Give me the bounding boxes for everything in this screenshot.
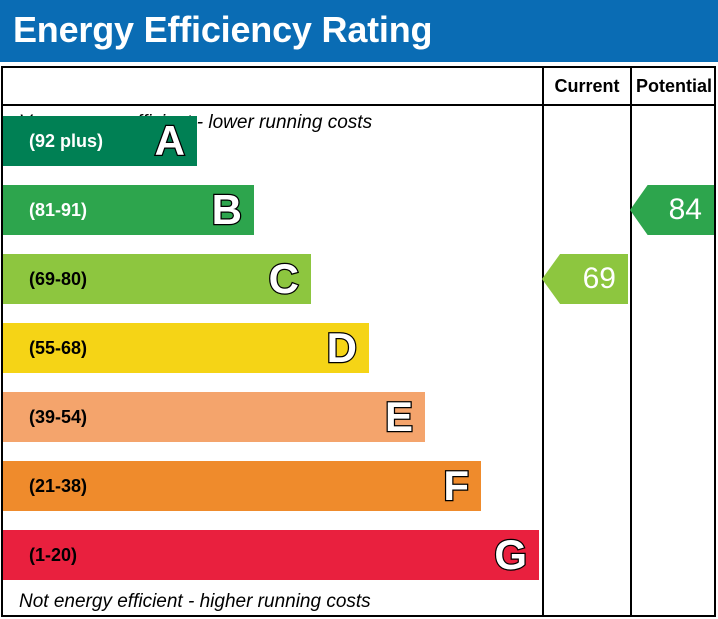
band-row-d: (55-68)D [3, 323, 369, 373]
band-letter-d: D [327, 323, 357, 373]
band-row-b: (81-91)B [3, 185, 254, 235]
band-row-a: (92 plus)A [3, 116, 197, 166]
band-letter-c: C [269, 254, 299, 304]
column-header-current: Current [544, 68, 630, 104]
rating-table: Current Potential Very energy efficient … [1, 66, 716, 617]
band-range-label-e: (39-54) [29, 392, 87, 442]
band-row-e: (39-54)E [3, 392, 425, 442]
column-header-potential: Potential [632, 68, 716, 104]
rating-arrow-potential: 84 [630, 185, 714, 235]
band-letter-e: E [385, 392, 413, 442]
band-letter-g: G [494, 530, 527, 580]
band-list: (92 plus)A(81-91)B(69-80)C(55-68)D(39-54… [3, 68, 542, 615]
band-range-label-f: (21-38) [29, 461, 87, 511]
chart-title-bar: Energy Efficiency Rating [0, 0, 718, 62]
band-letter-f: F [443, 461, 469, 511]
rating-arrow-current: 69 [542, 254, 628, 304]
band-row-f: (21-38)F [3, 461, 481, 511]
band-range-label-a: (92 plus) [29, 116, 103, 166]
band-letter-a: A [155, 116, 185, 166]
page-title: Energy Efficiency Rating [13, 7, 432, 53]
column-divider-current [542, 68, 544, 615]
band-range-label-b: (81-91) [29, 185, 87, 235]
band-range-label-c: (69-80) [29, 254, 87, 304]
band-row-g: (1-20)G [3, 530, 539, 580]
band-letter-b: B [212, 185, 242, 235]
column-divider-potential [630, 68, 632, 615]
energy-efficiency-rating-chart: Energy Efficiency Rating Current Potenti… [0, 0, 718, 619]
band-row-c: (69-80)C [3, 254, 311, 304]
band-range-label-g: (1-20) [29, 530, 77, 580]
band-range-label-d: (55-68) [29, 323, 87, 373]
